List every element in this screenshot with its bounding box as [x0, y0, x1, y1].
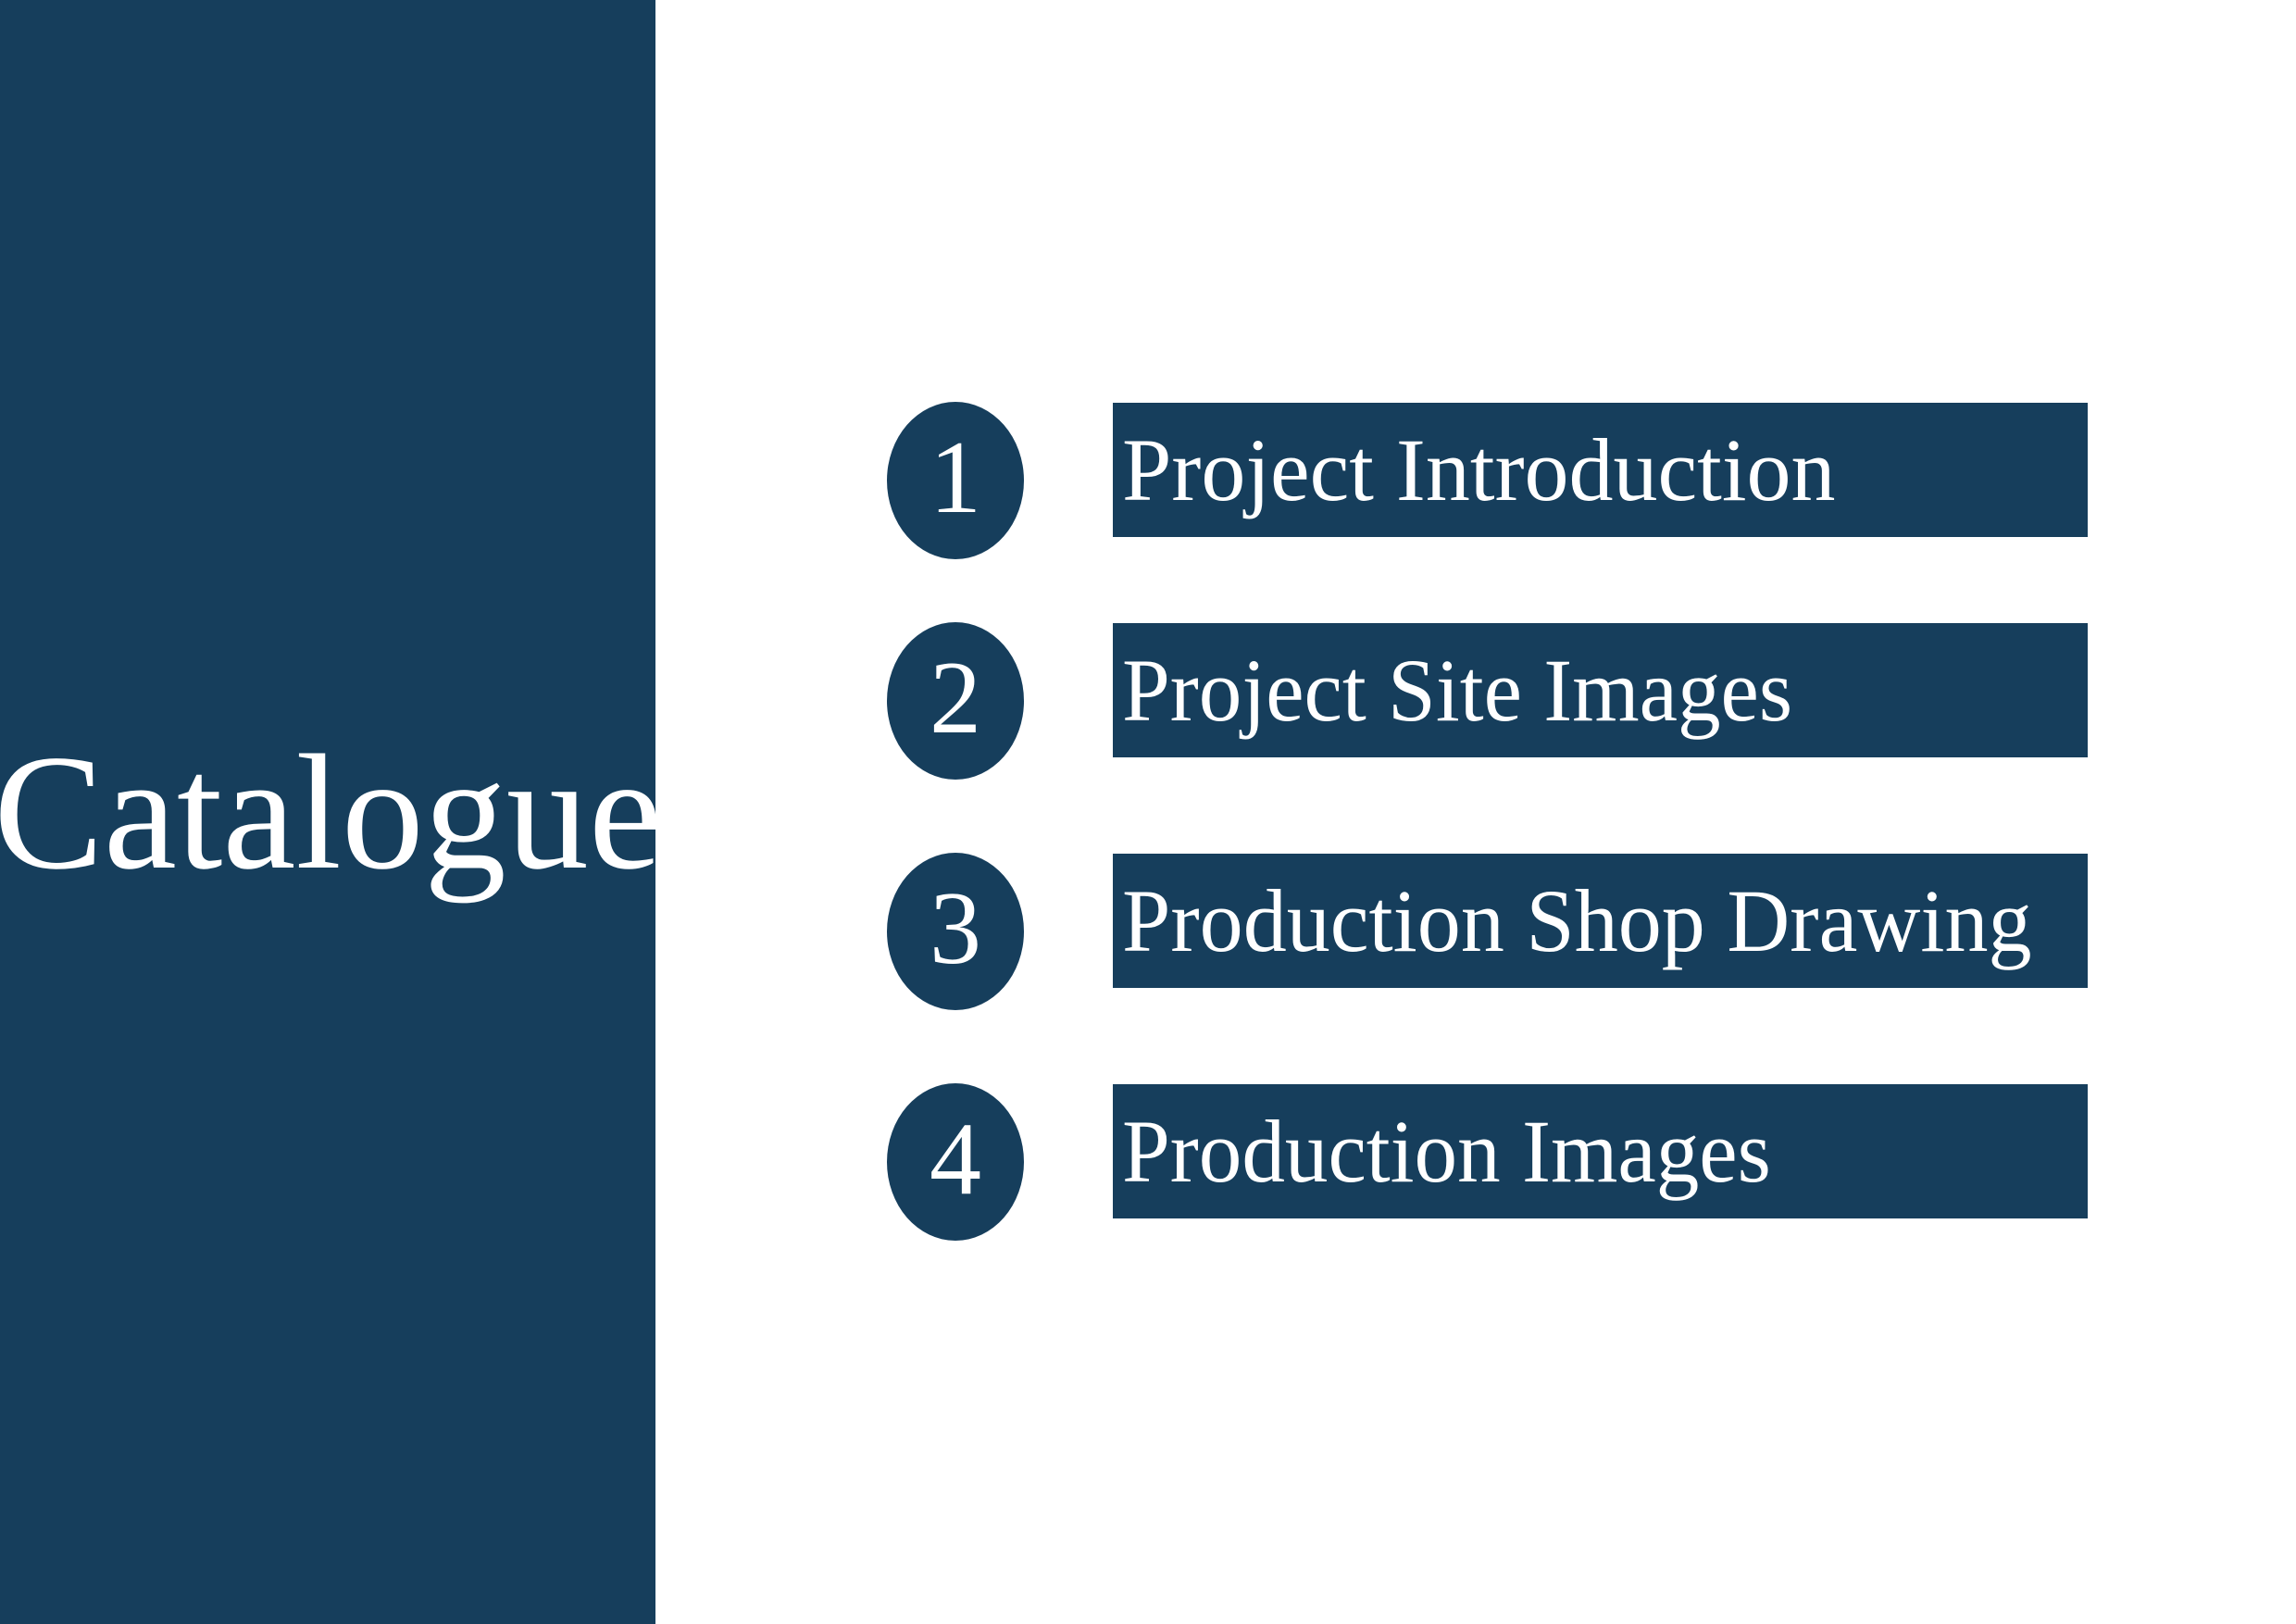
- agenda-bar-2[interactable]: Project Site Images: [1113, 623, 2088, 757]
- agenda-bar-4[interactable]: Production Images: [1113, 1084, 2088, 1218]
- agenda-bar-1[interactable]: Project Introduction: [1113, 403, 2088, 537]
- agenda-list: 1 Project Introduction 2 Project Site Im…: [655, 0, 2296, 1624]
- title-panel: Catalogue: [0, 0, 655, 1624]
- agenda-number-badge-3: 3: [887, 853, 1024, 1010]
- agenda-number-badge-1: 1: [887, 402, 1024, 559]
- catalogue-slide: Catalogue 1 Project Introduction 2 Proje…: [0, 0, 2296, 1624]
- agenda-number-badge-2: 2: [887, 622, 1024, 780]
- agenda-item-4[interactable]: 4 Production Images: [655, 1081, 2296, 1241]
- agenda-item-2[interactable]: 2 Project Site Images: [655, 620, 2296, 780]
- page-title: Catalogue: [0, 0, 655, 1624]
- agenda-item-3[interactable]: 3 Production Shop Drawing: [655, 851, 2296, 1010]
- agenda-label-4: Production Images: [1122, 1107, 1771, 1196]
- agenda-label-2: Project Site Images: [1122, 646, 1792, 735]
- agenda-number-badge-4: 4: [887, 1083, 1024, 1241]
- agenda-item-1[interactable]: 1 Project Introduction: [655, 400, 2296, 559]
- agenda-label-1: Project Introduction: [1122, 426, 1835, 515]
- agenda-bar-3[interactable]: Production Shop Drawing: [1113, 854, 2088, 988]
- agenda-label-3: Production Shop Drawing: [1122, 877, 2032, 966]
